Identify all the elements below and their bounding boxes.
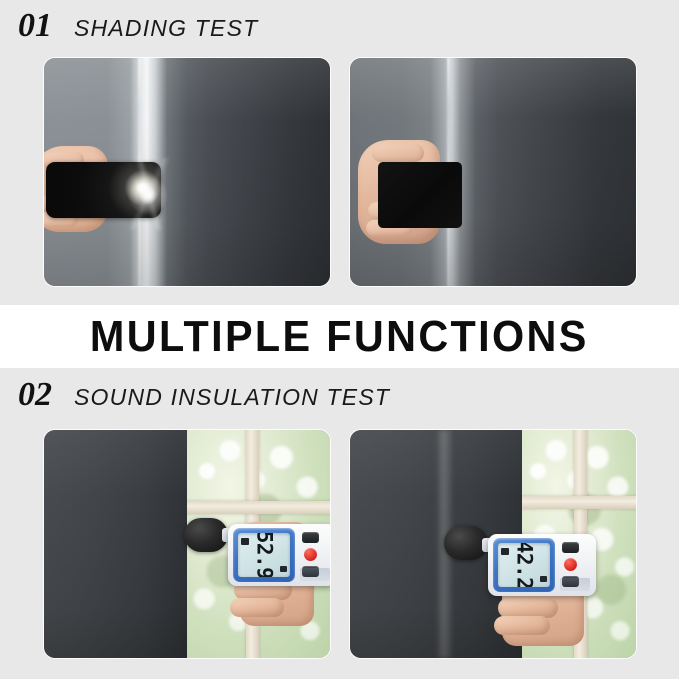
photo-card-sound-before: 52.9 bbox=[44, 430, 330, 658]
lcd-indicator-icon bbox=[241, 538, 249, 545]
meter-display-bezel: 52.9 bbox=[233, 528, 295, 582]
section-title-sound-insulation-test: SOUND INSULATION TEST bbox=[74, 386, 390, 409]
meter-brand-logo bbox=[560, 578, 590, 591]
window-mullion-horizontal bbox=[187, 501, 330, 514]
meter-button-power[interactable] bbox=[302, 532, 319, 543]
banner-multiple-functions: MULTIPLE FUNCTIONS bbox=[0, 305, 679, 368]
meter-button-power[interactable] bbox=[562, 542, 579, 553]
photo-flashlight-blocked-by-curtain bbox=[350, 58, 636, 286]
section-title-shading-test: SHADING TEST bbox=[74, 17, 258, 40]
meter-button-record[interactable] bbox=[304, 548, 317, 561]
meter-lcd-screen: 42.2 bbox=[498, 543, 550, 587]
meter-display-bezel: 42.2 bbox=[493, 538, 555, 592]
meter-brand-logo bbox=[300, 568, 330, 581]
banner-title: MULTIPLE FUNCTIONS bbox=[90, 312, 589, 362]
infographic-page: 01 SHADING TEST bbox=[0, 0, 679, 679]
meter-reading-value: 52.9 bbox=[252, 533, 276, 577]
finger bbox=[230, 598, 284, 617]
section-number-01: 01 bbox=[18, 9, 52, 43]
meter-button-record[interactable] bbox=[564, 558, 577, 571]
smartphone bbox=[378, 162, 462, 228]
photo-decibel-reading-behind-curtain: 42.2 bbox=[350, 430, 636, 658]
lcd-indicator-icon bbox=[280, 566, 287, 572]
section-number-02: 02 bbox=[18, 378, 52, 412]
photo-card-shading-light-on bbox=[44, 58, 330, 286]
section-02-heading: 02 SOUND INSULATION TEST bbox=[18, 378, 390, 412]
finger bbox=[498, 598, 558, 618]
photo-flashlight-on-through-curtain bbox=[44, 58, 330, 286]
photo-card-shading-light-blocked bbox=[350, 58, 636, 286]
section-01-heading: 01 SHADING TEST bbox=[18, 9, 258, 43]
sound-level-meter: 52.9 bbox=[228, 524, 330, 586]
curtain-surface bbox=[44, 430, 187, 658]
lcd-indicator-icon bbox=[540, 576, 547, 582]
window-mullion-horizontal bbox=[522, 496, 636, 509]
photo-card-sound-after: 42.2 bbox=[350, 430, 636, 658]
meter-reading-value: 42.2 bbox=[512, 543, 536, 587]
sound-level-meter: 42.2 bbox=[488, 534, 596, 596]
finger bbox=[372, 144, 424, 162]
photo-decibel-reading-window-open: 52.9 bbox=[44, 430, 330, 658]
meter-lcd-screen: 52.9 bbox=[238, 533, 290, 577]
lcd-indicator-icon bbox=[501, 548, 509, 555]
flashlight-glow-icon bbox=[128, 175, 168, 215]
finger bbox=[494, 616, 550, 635]
